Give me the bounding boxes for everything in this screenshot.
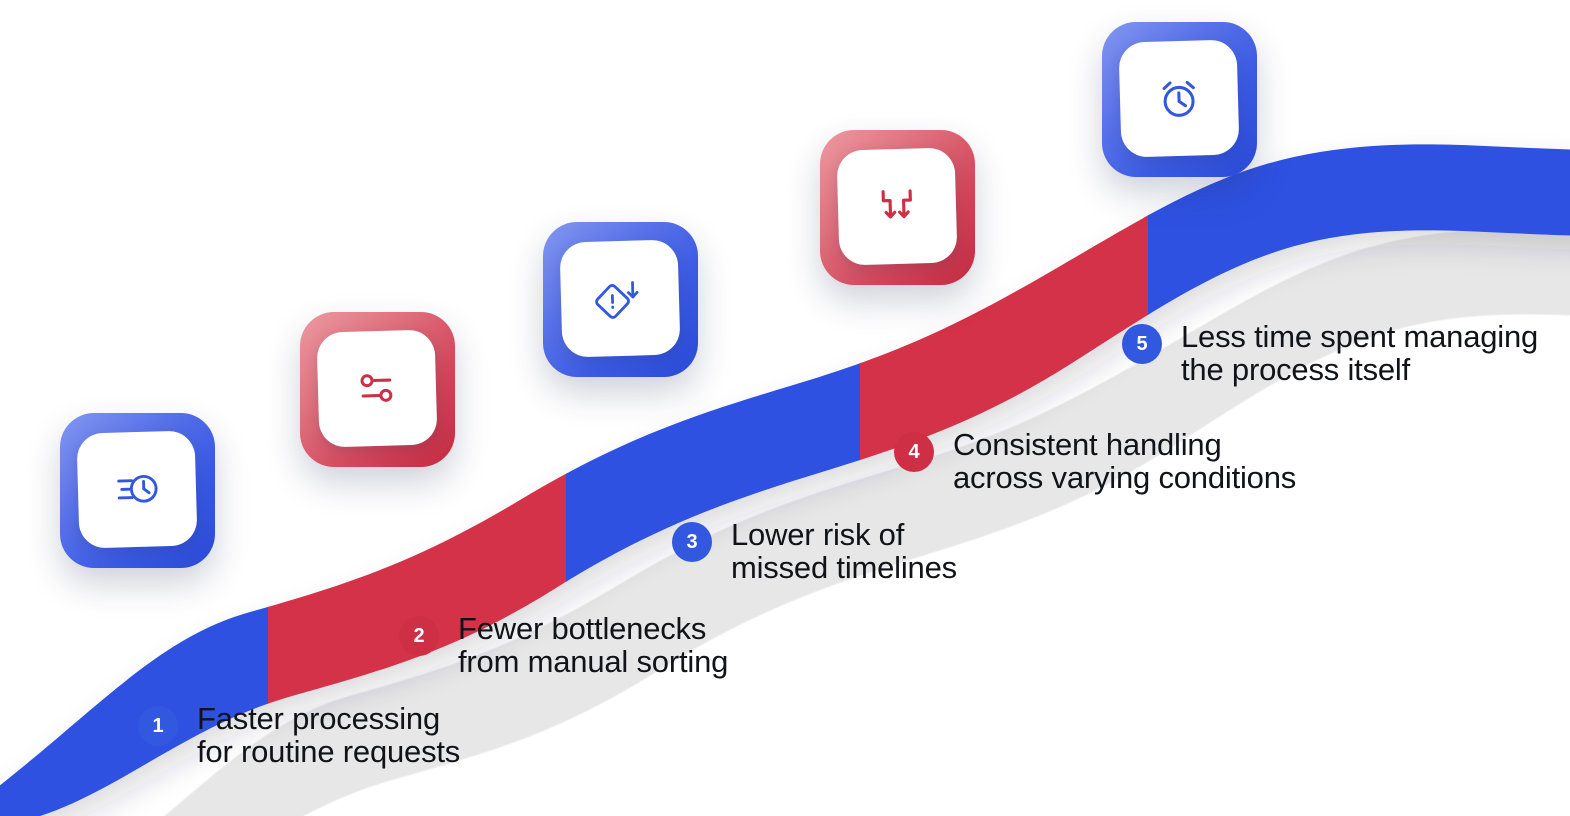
icon-tile-3[interactable]: [543, 222, 698, 377]
step-label-4-line-2: across varying conditions: [953, 461, 1296, 494]
step-badge-1: 1: [138, 706, 178, 746]
icon-tile-4[interactable]: [820, 130, 975, 285]
step-label-1-line-2: for routine requests: [197, 735, 460, 768]
step-badge-4: 4: [894, 432, 934, 472]
step-label-5: Less time spent managing the process its…: [1181, 320, 1538, 387]
icon-card-5: [1118, 40, 1239, 158]
icon-tile-1[interactable]: [60, 413, 215, 568]
icon-card-3: [559, 240, 680, 358]
icon-card-4: [836, 148, 957, 266]
merge-arrows-icon: [869, 179, 924, 234]
step-label-3: Lower risk of missed timelines: [731, 518, 957, 585]
step-label-4: Consistent handling across varying condi…: [953, 428, 1296, 495]
step-label-2: Fewer bottlenecks from manual sorting: [458, 612, 728, 679]
step-label-4-line-1: Consistent handling: [953, 428, 1296, 461]
icon-card-1: [76, 431, 197, 549]
ribbon-wave-graphic: [0, 0, 1570, 816]
step-item-2[interactable]: 2 Fewer bottlenecks from manual sorting: [399, 612, 728, 679]
step-label-3-line-1: Lower risk of: [731, 518, 957, 551]
icon-tile-2[interactable]: [300, 312, 455, 467]
step-label-5-line-1: Less time spent managing: [1181, 320, 1538, 353]
step-label-2-line-1: Fewer bottlenecks: [458, 612, 728, 645]
step-item-4[interactable]: 4 Consistent handling across varying con…: [894, 428, 1296, 495]
risk-down-icon: [591, 270, 649, 328]
step-item-1[interactable]: 1 Faster processing for routine requests: [138, 702, 460, 769]
step-label-2-line-2: from manual sorting: [458, 645, 728, 678]
step-label-1: Faster processing for routine requests: [197, 702, 460, 769]
step-badge-2: 2: [399, 616, 439, 656]
step-label-5-line-2: the process itself: [1181, 353, 1538, 386]
icon-tile-5[interactable]: [1102, 22, 1257, 177]
icon-card-2: [316, 330, 437, 448]
step-label-1-line-1: Faster processing: [197, 702, 460, 735]
step-item-5[interactable]: 5 Less time spent managing the process i…: [1122, 320, 1538, 387]
step-item-3[interactable]: 3 Lower risk of missed timelines: [672, 518, 957, 585]
step-badge-3: 3: [672, 522, 712, 562]
step-badge-5: 5: [1122, 324, 1162, 364]
infographic-canvas: 1 Faster processing for routine requests…: [0, 0, 1570, 816]
alarm-clock-icon: [1151, 71, 1206, 126]
fast-clock-icon: [109, 462, 164, 517]
sliders-icon: [350, 362, 403, 415]
step-label-3-line-2: missed timelines: [731, 551, 957, 584]
